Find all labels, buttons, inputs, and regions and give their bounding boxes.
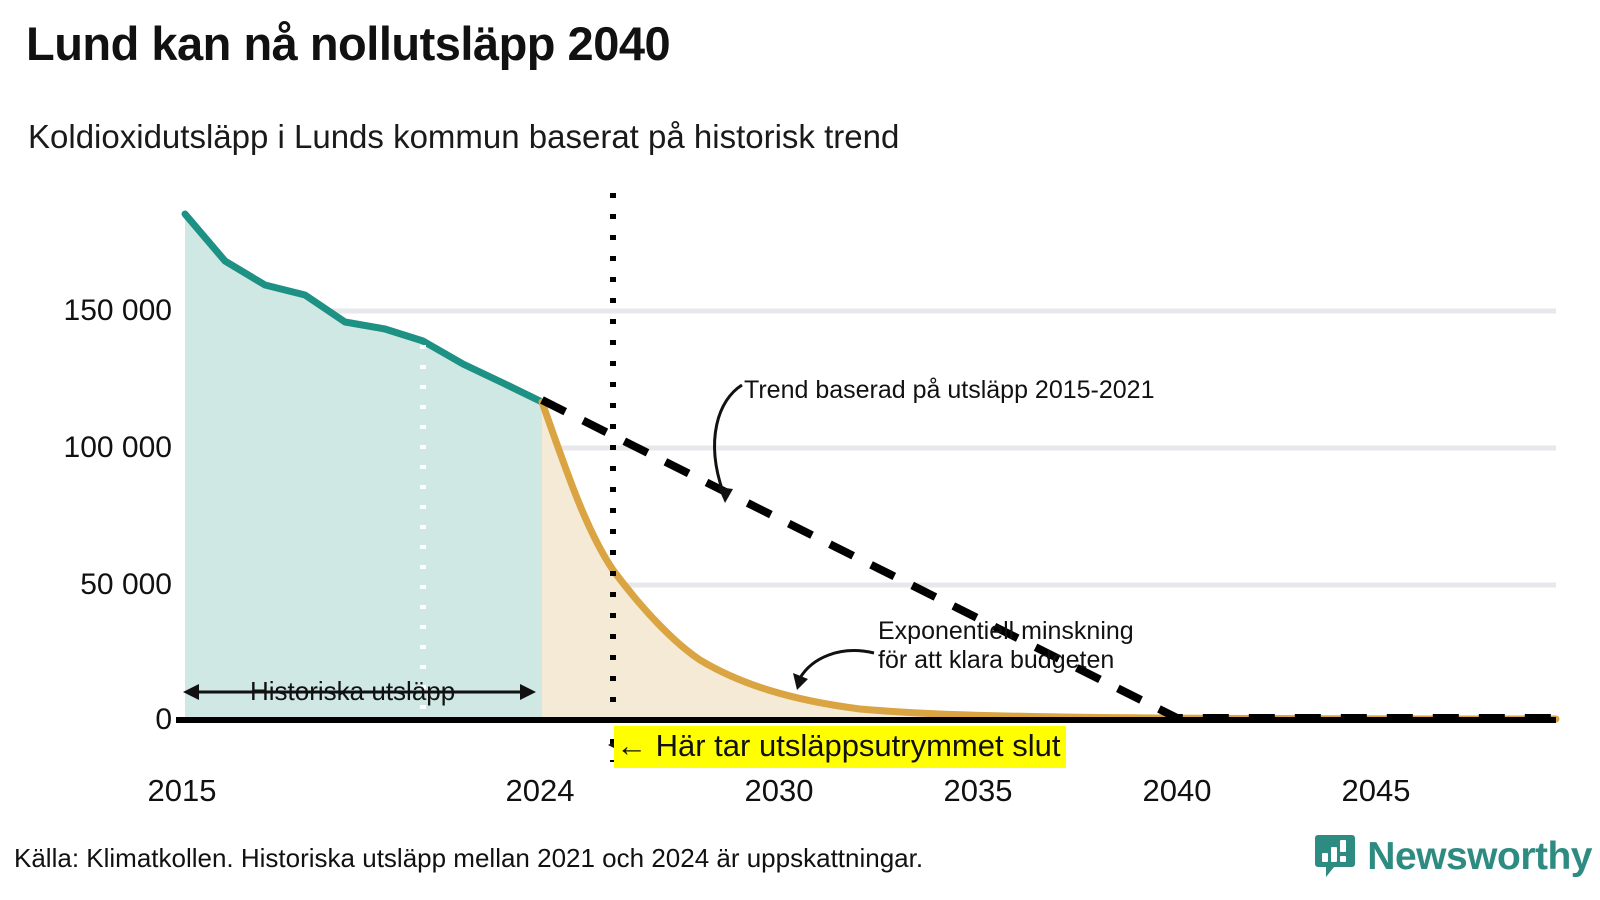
brand-name: Newsworthy xyxy=(1367,835,1592,879)
exponential-annotation-arrow xyxy=(793,651,874,690)
chart-container: Lund kan nå nollutsläpp 2040 Koldioxidut… xyxy=(0,0,1600,900)
x-tick-2015: 2015 xyxy=(148,773,217,809)
annotation-budget-end: ← Här tar utsläppsutrymmet slut xyxy=(614,726,1066,768)
newsworthy-logo[interactable]: Newsworthy xyxy=(1314,834,1592,880)
y-tick-0: 0 xyxy=(22,703,172,737)
y-tick-150000: 150 000 xyxy=(22,294,172,328)
historical-line xyxy=(185,214,542,402)
annotation-exponential-line2: för att klara budgeten xyxy=(878,646,1134,675)
annotation-trend: Trend baserad på utsläpp 2015-2021 xyxy=(744,376,1155,405)
y-tick-100000: 100 000 xyxy=(22,431,172,465)
trend-annotation-arrow xyxy=(715,385,742,503)
y-tick-50000: 50 000 xyxy=(22,568,172,602)
x-tick-2030: 2030 xyxy=(745,773,814,809)
annotation-exponential-line1: Exponentiell minskning xyxy=(878,617,1134,646)
y-axis-labels: 150 000 100 000 50 000 0 xyxy=(14,0,172,900)
x-tick-2045: 2045 xyxy=(1342,773,1411,809)
bar-chart-bubble-icon xyxy=(1314,834,1356,880)
annotation-historical-span: Historiska utsläpp xyxy=(245,676,460,707)
x-tick-2040: 2040 xyxy=(1143,773,1212,809)
historical-area xyxy=(185,214,542,720)
source-note: Källa: Klimatkollen. Historiska utsläpp … xyxy=(14,843,923,874)
annotation-exponential: Exponentiell minskning för att klara bud… xyxy=(878,617,1134,675)
x-tick-2035: 2035 xyxy=(944,773,1013,809)
x-tick-2024: 2024 xyxy=(506,773,575,809)
gridlines xyxy=(185,311,1556,585)
